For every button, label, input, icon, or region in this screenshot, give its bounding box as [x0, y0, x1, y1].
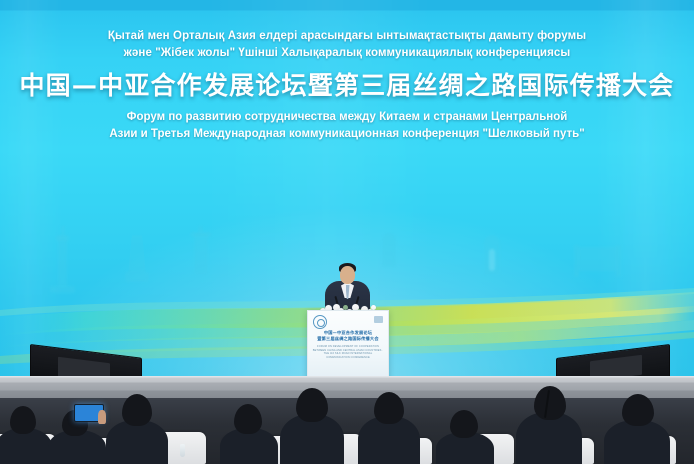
title-russian-line2: Азии и Третья Международная коммуникацио…	[0, 126, 694, 143]
seated-audience-foreground	[0, 398, 694, 464]
podium-text-line2: 暨第三届丝绸之路国际传播大会	[308, 336, 388, 342]
attendee-head	[374, 392, 404, 424]
podium-square-mark-icon	[374, 316, 383, 323]
attendee-body	[106, 420, 168, 464]
attendee-thumb	[98, 410, 106, 424]
event-title-block: Қытай мен Орталық Азия елдері арасындағы…	[0, 28, 694, 143]
dome-monument-4-icon	[382, 233, 396, 267]
title-kazakh: Қытай мен Орталық Азия елдері арасындағы…	[0, 28, 694, 62]
podium-emblem-icon	[313, 315, 327, 329]
podium-subtitle: FORUM ON DEVELOPMENT OF COOPERATION BETW…	[312, 345, 384, 359]
attendee-head	[234, 404, 262, 434]
title-kazakh-line2: және "Жібек жолы" Үшінші Халықаралық ком…	[0, 45, 694, 62]
title-chinese: 中国—中亚合作发展论坛暨第三届丝绸之路国际传播大会	[0, 71, 694, 101]
attendee-head	[122, 394, 152, 426]
attendee-head	[534, 386, 566, 420]
minaret-tower-1-icon	[58, 235, 67, 287]
tower-monument-2-icon	[128, 235, 146, 273]
attendee-head	[450, 410, 478, 438]
speaker-head	[340, 266, 355, 284]
attendee-head	[296, 388, 328, 422]
title-kazakh-line1: Қытай мен Орталық Азия елдері арасындағы…	[0, 28, 694, 45]
conference-stage-photo: Қытай мен Орталық Азия елдері арасындағы…	[0, 0, 694, 464]
podium-lectern: 中国—中亚合作发展论坛 暨第三届丝绸之路国际传播大会 FORUM ON DEVE…	[307, 310, 389, 384]
attendee-head	[622, 394, 654, 426]
title-russian-line1: Форум по развитию сотрудничества между К…	[0, 109, 694, 126]
gate-building-6-icon	[578, 247, 618, 271]
water-bottle	[180, 444, 185, 457]
attendee-head	[10, 406, 36, 434]
title-russian: Форум по развитию сотрудничества между К…	[0, 109, 694, 143]
attendee-body	[604, 420, 670, 464]
pagoda-tower-3-icon	[194, 233, 208, 275]
